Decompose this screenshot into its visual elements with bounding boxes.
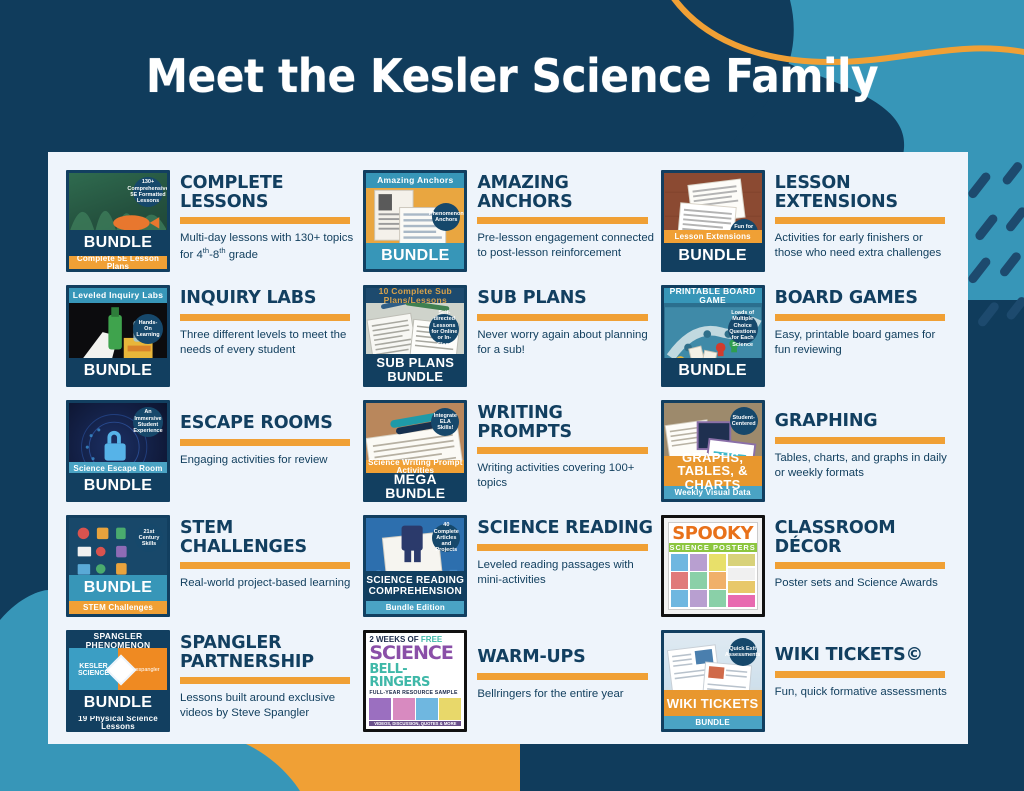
thumb-mainband: BUNDLE xyxy=(69,358,167,384)
thumbnail-complete-lessons: 130+ Comprehensive 5E Formatted Lessons … xyxy=(66,170,170,272)
thumbnail-sub-plans: 10 Complete Sub Plans/Lessons Self-direc… xyxy=(363,285,467,387)
item-title: ESCAPE ROOMS xyxy=(180,414,357,433)
warmups-line4: FULL-YEAR RESOURCE SAMPLE xyxy=(369,690,461,696)
accent-rule xyxy=(477,217,647,224)
item-description: Writing activities covering 100+ topics xyxy=(477,461,654,491)
thumbnail-spangler-partnership: KESLER SCIENCE stevespangler SPANGLER PH… xyxy=(66,630,170,732)
thumb-mainband: WIKI TICKETS xyxy=(664,690,762,716)
item-description: Tables, charts, and graphs in daily or w… xyxy=(775,451,952,481)
thumb-mainband-line1: SUB PLANS xyxy=(376,356,454,369)
accent-rule xyxy=(180,217,350,224)
item-description: Three different levels to meet the needs… xyxy=(180,328,357,358)
accent-rule xyxy=(477,447,647,454)
thumb-subband: Bundle Edition xyxy=(366,601,464,614)
thumbnail-graphing: Student-Centered Weekly Visual Data GRAP… xyxy=(661,400,765,502)
thumb-mainband-line1: SCIENCE READING xyxy=(366,576,464,586)
thumb-mainband-line2: COMPREHENSION xyxy=(369,587,462,597)
thumb-badge: Student-Centered xyxy=(730,407,758,435)
thumb-mainband: BUNDLE xyxy=(69,690,167,716)
item-title: AMAZING ANCHORS xyxy=(477,174,654,211)
accent-rule xyxy=(775,314,945,321)
item-title: WIKI TICKETS© xyxy=(775,646,952,665)
thumb-subband: Lesson Extensions xyxy=(664,230,762,243)
thumb-mainband: MEGA BUNDLE xyxy=(366,473,464,499)
list-item[interactable]: SPOOKY SCIENCE POSTERS xyxy=(661,515,952,629)
thumbnail-stem-challenges: 21st Century Skills STEM Challenges BUND… xyxy=(66,515,170,617)
item-title: SPANGLER PARTNERSHIP xyxy=(180,634,357,671)
item-title: INQUIRY LABS xyxy=(180,289,357,308)
item-title: CLASSROOM DÉCOR xyxy=(775,519,952,556)
thumb-badge: Hands-On Learning xyxy=(133,314,163,344)
accent-rule xyxy=(775,562,945,569)
item-description: Fun, quick formative assessments xyxy=(775,685,952,700)
list-item[interactable]: Quick Exit Assessments BUNDLE WIKI TICKE… xyxy=(661,630,952,744)
thumb-badge: An Immersive Student Experience xyxy=(133,407,163,437)
warmups-line3: BELL-RINGERS xyxy=(369,663,461,689)
thumb-badge: Loads of Multiple Choice Questions for E… xyxy=(728,314,758,344)
thumbnail-classroom-decor: SPOOKY SCIENCE POSTERS xyxy=(661,515,765,617)
thumb-badge: 21st Century Skills xyxy=(135,524,163,552)
list-item[interactable]: PRINTABLE BOARD GAME Loads of Multiple C… xyxy=(661,285,952,399)
item-description: Poster sets and Science Awards xyxy=(775,576,952,591)
thumb-mainband: BUNDLE xyxy=(366,243,464,269)
list-item[interactable]: 21st Century Skills STEM Challenges BUND… xyxy=(66,515,357,629)
item-title: STEM CHALLENGES xyxy=(180,519,357,556)
list-item[interactable]: Integrate ELA Skills! Science Writing Pr… xyxy=(363,400,654,514)
product-grid-panel: 130+ Comprehensive 5E Formatted Lessons … xyxy=(48,152,968,744)
thumb-mainband: BUNDLE xyxy=(664,358,762,384)
list-item[interactable]: Fun for Early Finishers Lesson Extension… xyxy=(661,170,952,284)
thumb-badge: 130+ Comprehensive 5E Formatted Lessons xyxy=(133,177,163,207)
accent-rule xyxy=(477,314,647,321)
item-title: LESSON EXTENSIONS xyxy=(775,174,952,211)
thumbnail-amazing-anchors: Amazing Anchors Phenomenon Anchors BUNDL… xyxy=(363,170,467,272)
accent-rule xyxy=(477,673,647,680)
list-item[interactable]: 40 Complete Articles and Projects Bundle… xyxy=(363,515,654,629)
thumb-subband: STEM Challenges xyxy=(69,601,167,614)
thumb-mainband-line1: GRAPHS, TABLES, & xyxy=(664,451,762,477)
item-title: BOARD GAMES xyxy=(775,289,952,308)
thumb-badge: Quick Exit Assessments xyxy=(729,638,757,666)
warmups-line5: VIDEOS, DISCUSSION, QUOTES & MORE xyxy=(369,721,461,726)
warmups-line2: SCIENCE xyxy=(369,644,461,663)
accent-rule xyxy=(775,217,945,224)
thumb-mainband-line2: BUNDLE xyxy=(387,370,443,383)
thumb-subband: 19 Physical Science Lessons xyxy=(69,716,167,729)
list-item[interactable]: KESLER SCIENCE stevespangler SPANGLER PH… xyxy=(66,630,357,744)
thumb-mainband: GRAPHS, TABLES, & CHARTS xyxy=(664,456,762,486)
item-description: Activities for early finishers or those … xyxy=(775,231,952,261)
item-description: Multi-day lessons with 130+ topics for 4… xyxy=(180,231,357,263)
thumb-mainband: BUNDLE xyxy=(69,230,167,256)
thumb-badge: Self-directed Lessons for Online or In-C… xyxy=(429,314,459,344)
list-item[interactable]: An Immersive Student Experience Science … xyxy=(66,400,357,514)
thumb-subband: Complete 5E Lesson Plans xyxy=(69,256,167,269)
thumb-topband: PRINTABLE BOARD GAME xyxy=(664,288,762,303)
thumb-topband: Leveled Inquiry Labs xyxy=(69,288,167,303)
thumb-mainband: SCIENCE READING COMPREHENSION xyxy=(366,571,464,601)
accent-rule xyxy=(180,677,350,684)
item-description: Bellringers for the entire year xyxy=(477,687,654,702)
accent-rule xyxy=(775,671,945,678)
item-title: WARM-UPS xyxy=(477,648,654,667)
accent-rule xyxy=(477,544,647,551)
accent-rule xyxy=(180,314,350,321)
thumb-subband: BUNDLE xyxy=(664,716,762,729)
item-title: WRITING PROMPTS xyxy=(477,404,654,441)
list-item[interactable]: 130+ Comprehensive 5E Formatted Lessons … xyxy=(66,170,357,284)
thumbnail-writing-prompts: Integrate ELA Skills! Science Writing Pr… xyxy=(363,400,467,502)
thumbnail-board-games: PRINTABLE BOARD GAME Loads of Multiple C… xyxy=(661,285,765,387)
thumb-badge: 40 Complete Articles and Projects xyxy=(432,524,460,552)
thumbnail-escape-rooms: An Immersive Student Experience Science … xyxy=(66,400,170,502)
item-description: Engaging activities for review xyxy=(180,453,357,468)
poster-title: SPOOKY xyxy=(669,525,757,543)
list-item[interactable]: Student-Centered Weekly Visual Data GRAP… xyxy=(661,400,952,514)
thumb-topband: Amazing Anchors xyxy=(366,173,464,188)
list-item[interactable]: 10 Complete Sub Plans/Lessons Self-direc… xyxy=(363,285,654,399)
item-title: COMPLETE LESSONS xyxy=(180,174,357,211)
accent-rule xyxy=(180,562,350,569)
thumbnail-warm-ups: 2 WEEKS OF FREE SCIENCE BELL-RINGERS FUL… xyxy=(363,630,467,732)
thumb-mainband: BUNDLE xyxy=(69,575,167,601)
thumbnail-inquiry-labs: Leveled Inquiry Labs Hands-On Learning B… xyxy=(66,285,170,387)
list-item[interactable]: Amazing Anchors Phenomenon Anchors BUNDL… xyxy=(363,170,654,284)
thumb-mainband: BUNDLE xyxy=(664,243,762,269)
thumb-mainband: BUNDLE xyxy=(69,473,167,499)
thumb-topband: SPANGLER PHENOMENON xyxy=(69,633,167,648)
accent-rule xyxy=(775,437,945,444)
item-description: Lessons built around exclusive videos by… xyxy=(180,691,357,721)
accent-rule xyxy=(180,439,350,446)
item-description: Real-world project-based learning xyxy=(180,576,357,591)
item-description: Leveled reading passages with mini-activ… xyxy=(477,558,654,588)
thumbnail-wiki-tickets: Quick Exit Assessments BUNDLE WIKI TICKE… xyxy=(661,630,765,732)
list-item[interactable]: 2 WEEKS OF FREE SCIENCE BELL-RINGERS FUL… xyxy=(363,630,654,744)
item-description: Never worry again about planning for a s… xyxy=(477,328,654,358)
thumb-mainband-line2: CHARTS xyxy=(685,478,741,491)
thumb-topband: 10 Complete Sub Plans/Lessons xyxy=(366,288,464,303)
item-title: SCIENCE READING xyxy=(477,519,654,538)
thumbnail-lesson-extensions: Fun for Early Finishers Lesson Extension… xyxy=(661,170,765,272)
item-title: GRAPHING xyxy=(775,412,952,431)
thumb-mainband: SUB PLANS BUNDLE xyxy=(366,354,464,384)
item-title: SUB PLANS xyxy=(477,289,654,308)
item-description: Easy, printable board games for fun revi… xyxy=(775,328,952,358)
list-item[interactable]: Leveled Inquiry Labs Hands-On Learning B… xyxy=(66,285,357,399)
item-description: Pre-lesson engagement connected to post-… xyxy=(477,231,654,261)
poster-subtitle: SCIENCE POSTERS xyxy=(669,543,757,552)
thumbnail-science-reading: 40 Complete Articles and Projects Bundle… xyxy=(363,515,467,617)
